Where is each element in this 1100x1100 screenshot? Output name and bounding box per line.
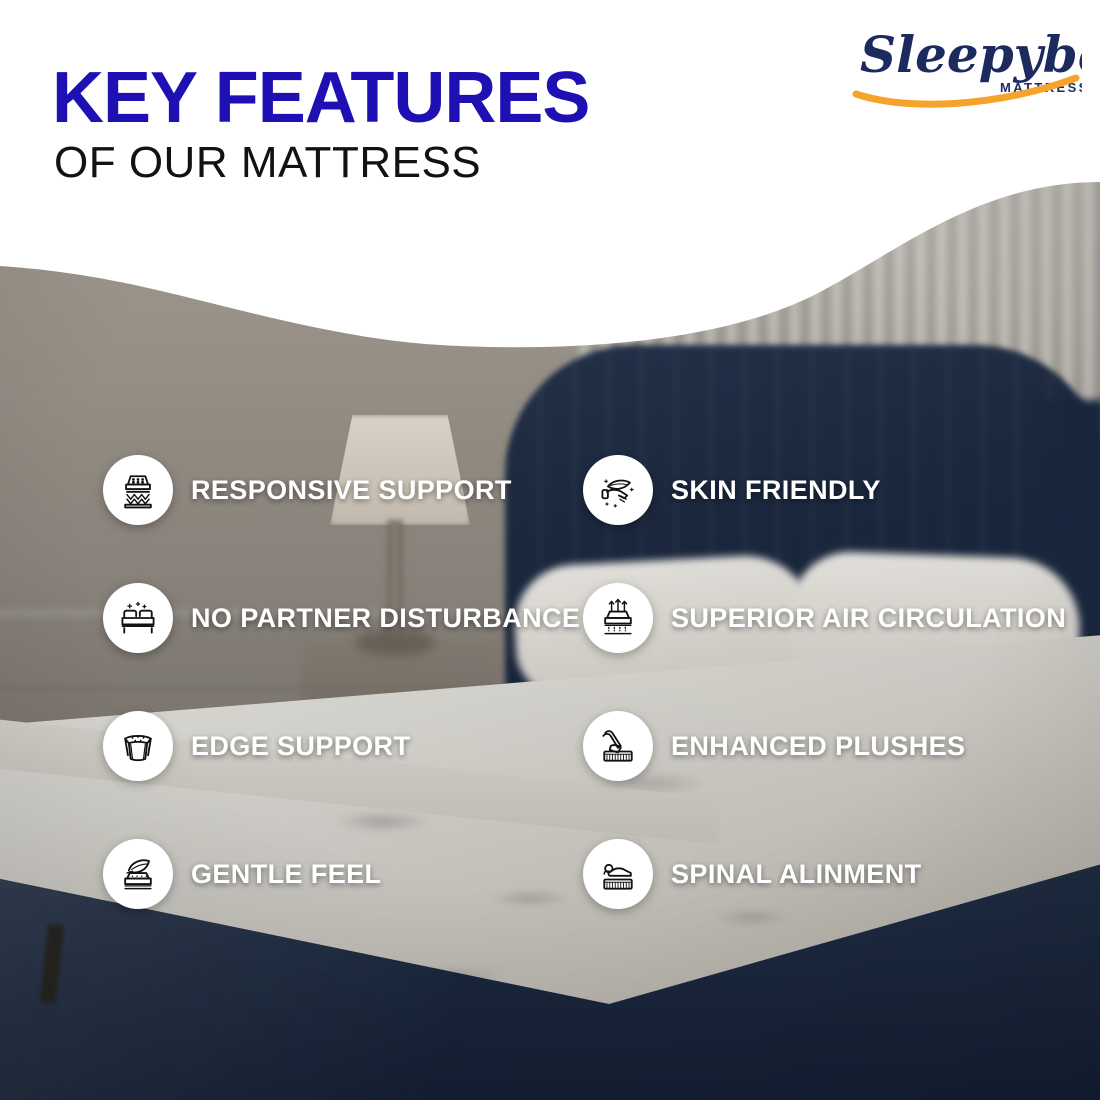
- feature-label: SUPERIOR AIR CIRCULATION: [671, 603, 1066, 634]
- feature-spinal-alinment[interactable]: SPINAL ALINMENT: [583, 839, 922, 909]
- feature-label: RESPONSIVE SUPPORT: [191, 475, 512, 506]
- feature-label: NO PARTNER DISTURBANCE: [191, 603, 580, 634]
- feature-label: ENHANCED PLUSHES: [671, 731, 965, 762]
- poster: KEY FEATURES OF OUR MATTRESS Sleepybee M…: [0, 0, 1100, 1100]
- feature-no-partner-disturbance[interactable]: NO PARTNER DISTURBANCE: [103, 583, 580, 653]
- feature-edge-support[interactable]: EDGE SUPPORT: [103, 711, 410, 781]
- double-bed-sparkle-icon: [103, 583, 173, 653]
- person-lying-mattress-icon: [583, 839, 653, 909]
- mattress-airflow-icon: [583, 583, 653, 653]
- feature-superior-air-circulation[interactable]: SUPERIOR AIR CIRCULATION: [583, 583, 1066, 653]
- hand-press-mattress-icon: [583, 711, 653, 781]
- feature-skin-friendly[interactable]: SKIN FRIENDLY: [583, 455, 881, 525]
- feather-mattress-icon: [103, 839, 173, 909]
- feature-list: RESPONSIVE SUPPORT: [0, 0, 1100, 1100]
- feature-label: SPINAL ALINMENT: [671, 859, 922, 890]
- mattress-corner-icon: [103, 711, 173, 781]
- feature-label: GENTLE FEEL: [191, 859, 381, 890]
- feather-on-hand-icon: [583, 455, 653, 525]
- feature-responsive-support[interactable]: RESPONSIVE SUPPORT: [103, 455, 512, 525]
- feature-gentle-feel[interactable]: GENTLE FEEL: [103, 839, 381, 909]
- feature-enhanced-plushes[interactable]: ENHANCED PLUSHES: [583, 711, 965, 781]
- feature-label: EDGE SUPPORT: [191, 731, 410, 762]
- feature-label: SKIN FRIENDLY: [671, 475, 881, 506]
- mattress-springs-icon: [103, 455, 173, 525]
